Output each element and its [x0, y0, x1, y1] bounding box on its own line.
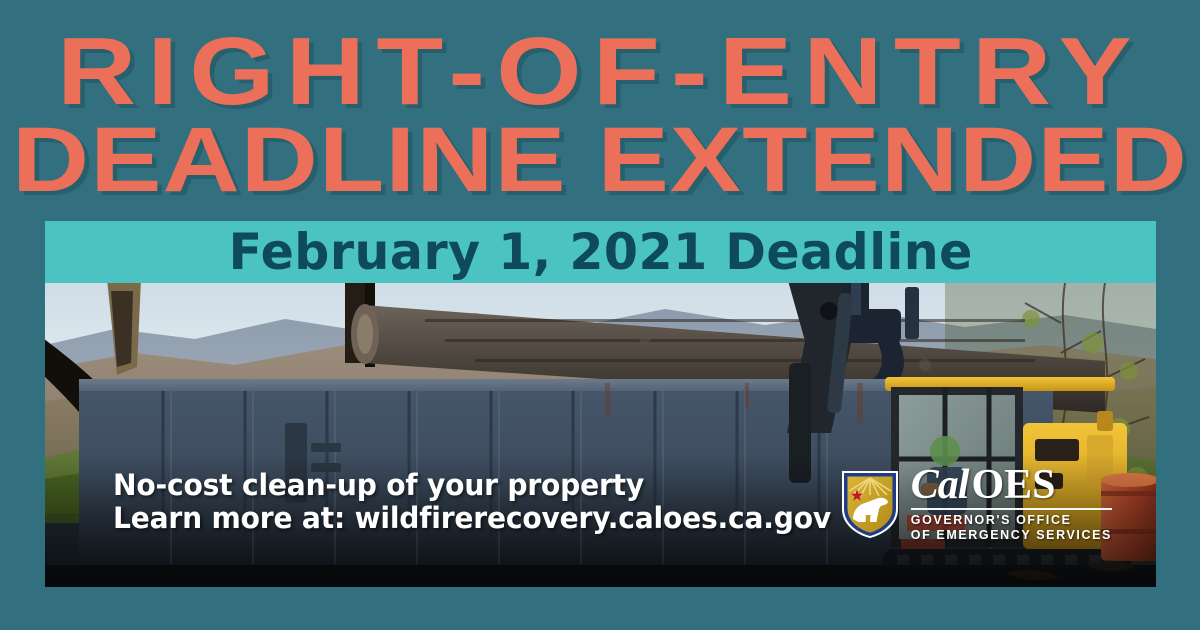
wildfire-cleanup-photo: No-cost clean-up of your property Learn … [45, 283, 1156, 587]
date-banner: February 1, 2021 Deadline [45, 221, 1156, 283]
caption-block: No-cost clean-up of your property Learn … [113, 469, 853, 535]
wordmark-divider [911, 508, 1112, 510]
cal-oes-bear-shield-icon [839, 467, 901, 540]
wordmark-subtitle-line-2: OF EMERGENCY SERVICES [911, 528, 1112, 543]
headline-line-1: RIGHT-OF-ENTRY [0, 24, 1200, 120]
wordmark-oes: OES [971, 464, 1055, 506]
cal-oes-wordmark: Cal OES GOVERNOR'S OFFICE OF EMERGENCY S… [911, 464, 1112, 544]
cal-oes-wordmark-top: Cal OES [911, 464, 1112, 506]
wordmark-subtitle-line-1: GOVERNOR'S OFFICE [911, 513, 1112, 528]
date-banner-text: February 1, 2021 Deadline [228, 227, 972, 277]
headline-line-2: DEADLINE EXTENDED [0, 114, 1200, 206]
caption-line-2: Learn more at: wildfirerecovery.caloes.c… [113, 502, 831, 535]
wordmark-cal: Cal [911, 464, 969, 506]
cal-oes-logo: Cal OES GOVERNOR'S OFFICE OF EMERGENCY S… [839, 464, 1112, 544]
graphic-canvas: RIGHT-OF-ENTRY DEADLINE EXTENDED Februar… [0, 0, 1200, 630]
caption-line-1: No-cost clean-up of your property [113, 469, 831, 502]
